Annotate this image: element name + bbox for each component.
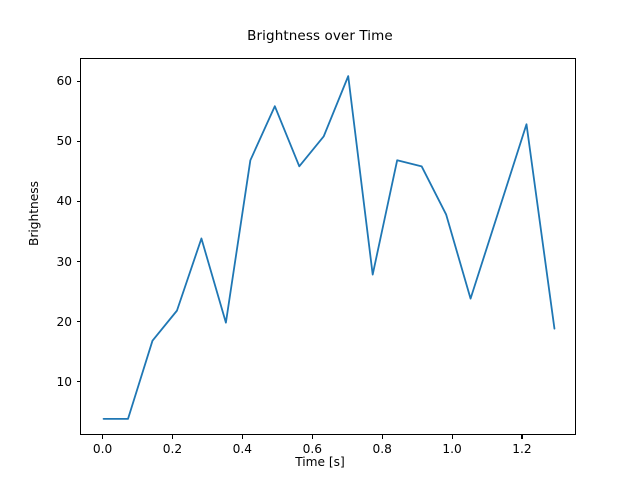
y-tick-label: 60 bbox=[20, 74, 72, 88]
y-axis-label: Brightness bbox=[27, 181, 41, 246]
y-tick-label: 10 bbox=[20, 375, 72, 389]
figure-canvas: Brightness over Time Brightness Time [s]… bbox=[0, 0, 640, 480]
page-title: Brightness over Time bbox=[0, 28, 640, 44]
plot-area bbox=[80, 58, 576, 435]
x-tick-label: 0.0 bbox=[93, 442, 112, 456]
line-series-brightness bbox=[81, 59, 577, 436]
series-polyline bbox=[104, 76, 555, 419]
x-tick-label: 0.4 bbox=[233, 442, 252, 456]
y-tick-label: 50 bbox=[20, 134, 72, 148]
x-tick-label: 0.2 bbox=[163, 442, 182, 456]
x-axis-label: Time [s] bbox=[0, 455, 640, 469]
x-tick-label: 1.2 bbox=[512, 442, 531, 456]
y-tick-label: 40 bbox=[20, 194, 72, 208]
x-tick-label: 0.8 bbox=[372, 442, 391, 456]
x-tick-label: 1.0 bbox=[442, 442, 461, 456]
x-tick-label: 0.6 bbox=[303, 442, 322, 456]
y-tick-label: 30 bbox=[20, 255, 72, 269]
y-tick-label: 20 bbox=[20, 315, 72, 329]
